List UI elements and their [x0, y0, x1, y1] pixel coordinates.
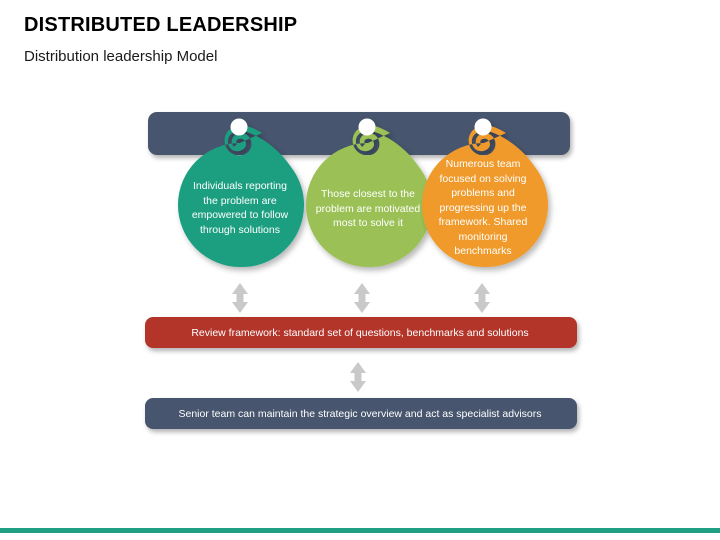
double-arrow-icon-4 [350, 362, 366, 392]
puzzle-notch-3 [475, 119, 492, 136]
diagram-canvas [0, 0, 720, 540]
double-arrow-icon-3 [474, 283, 490, 313]
senior-team-bar[interactable] [145, 398, 577, 429]
puzzle-notch-2 [359, 119, 376, 136]
puzzle-notch-1 [231, 119, 248, 136]
double-arrow-icon-1 [232, 283, 248, 313]
double-arrow-icon-2 [354, 283, 370, 313]
distributed-leadership-diagram: Individuals reporting the problem are em… [0, 0, 720, 540]
review-framework-bar[interactable] [145, 317, 577, 348]
footer-accent-strip [0, 528, 720, 533]
